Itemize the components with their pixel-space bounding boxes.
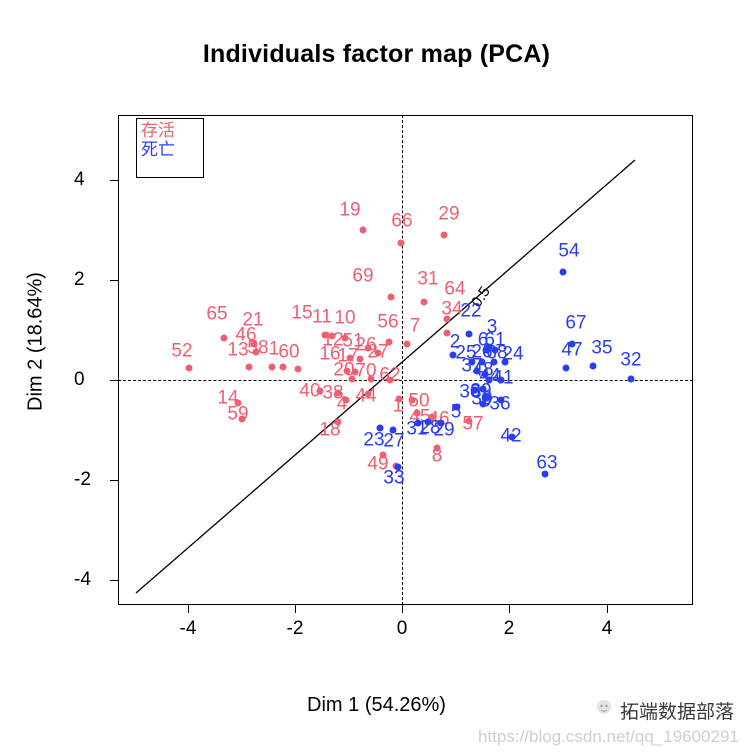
x-tick-mark (509, 605, 510, 613)
data-point-label-alive: 44 (355, 387, 376, 406)
data-point-label-alive: 62 (379, 366, 400, 385)
y-tick-mark (110, 380, 118, 381)
data-point-alive (295, 366, 302, 373)
y-tick-label: 4 (74, 169, 85, 191)
data-point-dead (560, 269, 567, 276)
data-point-label-alive: 52 (171, 342, 192, 361)
y-tick-label: -2 (74, 469, 91, 491)
data-point-label-dead: 47 (561, 341, 582, 360)
data-point-label-dead: 39 (471, 390, 492, 409)
watermark-text: 拓端数据部落 (620, 697, 734, 724)
x-tick-mark (607, 605, 608, 613)
data-point-label-dead: 42 (500, 427, 521, 446)
data-point-label-alive: 20 (333, 361, 354, 380)
x-tick-label: -2 (287, 618, 304, 640)
data-point-alive (398, 240, 405, 247)
data-point-label-alive: 59 (227, 405, 248, 424)
data-point-label-dead: 63 (536, 454, 557, 473)
data-point-label-alive: 1 (393, 397, 404, 416)
data-point-label-alive: 4 (337, 395, 348, 414)
x-tick-mark (295, 605, 296, 613)
x-tick-label: 2 (504, 618, 515, 640)
data-point-alive (388, 294, 395, 301)
y-tick-label: -4 (74, 569, 91, 591)
y-tick-mark (110, 480, 118, 481)
data-point-dead (628, 376, 635, 383)
data-point-label-alive: 27 (367, 343, 388, 362)
data-point-label-alive: 15 (291, 304, 312, 323)
x-tick-label: -4 (180, 618, 197, 640)
data-point-label-dead: 33 (383, 469, 404, 488)
watermark-logo-icon (592, 695, 616, 719)
data-point-alive (421, 299, 428, 306)
data-point-label-alive: 13 (227, 341, 248, 360)
data-point-label-dead: 22 (460, 302, 481, 321)
data-point-label-alive: 70 (355, 362, 376, 381)
data-point-label-alive: 56 (377, 313, 398, 332)
diagonal-reference-line (118, 115, 693, 605)
page-title: Individuals factor map (PCA) (0, 40, 753, 69)
x-tick-mark (188, 605, 189, 613)
legend-item-alive: 存活 (141, 122, 199, 141)
x-tick-label: 4 (602, 618, 613, 640)
data-point-alive (280, 364, 287, 371)
data-point-label-alive: 31 (417, 270, 438, 289)
data-point-label-alive: 18 (319, 421, 340, 440)
data-point-label-alive: 58 (247, 339, 268, 358)
y-tick-mark (110, 580, 118, 581)
data-point-alive (441, 232, 448, 239)
y-tick-mark (110, 280, 118, 281)
data-point-label-alive: 57 (462, 415, 483, 434)
data-point-dead (466, 331, 473, 338)
data-point-dead (563, 365, 570, 372)
data-point-label-dead: 23 (363, 431, 384, 450)
legend-item-dead: 死亡 (141, 141, 199, 160)
data-point-label-alive: 34 (441, 300, 462, 319)
data-point-alive (269, 364, 276, 371)
data-point-alive (246, 364, 253, 371)
y-axis-title: Dim 2 (18.64%) (25, 212, 48, 472)
data-point-label-alive: 29 (438, 205, 459, 224)
data-point-alive (404, 341, 411, 348)
data-point-label-alive: 40 (299, 382, 320, 401)
y-tick-label: 0 (74, 369, 85, 391)
data-point-label-alive: 66 (391, 212, 412, 231)
data-point-label-dead: 24 (502, 345, 523, 364)
x-tick-mark (402, 605, 403, 613)
data-point-alive (186, 365, 193, 372)
x-tick-label: 0 (397, 618, 408, 640)
data-point-dead (590, 363, 597, 370)
data-point-label-alive: 7 (410, 317, 421, 336)
data-point-label-alive: 11 (312, 308, 332, 327)
data-point-label-dead: 27 (383, 432, 404, 451)
data-point-label-dead: 32 (620, 351, 641, 370)
data-point-label-dead: 31 (406, 420, 427, 439)
data-point-label-dead: 36 (489, 395, 510, 414)
data-point-label-alive: 19 (339, 201, 360, 220)
data-point-label-alive: 64 (444, 280, 465, 299)
data-point-label-alive: 8 (432, 447, 443, 466)
watermark-url: https://blog.csdn.net/qq_19600291 (478, 727, 739, 747)
data-point-label-alive: 65 (206, 305, 227, 324)
data-point-label-alive: 69 (352, 267, 373, 286)
data-point-label-alive: 60 (278, 343, 299, 362)
legend: 存活 死亡 (136, 118, 204, 178)
data-point-label-dead: 67 (565, 314, 586, 333)
data-point-label-dead: 6 (478, 331, 489, 350)
y-tick-label: 2 (74, 269, 85, 291)
pca-chart-canvas: Individuals factor map (PCA) 0.5 存活 死亡 -… (0, 0, 753, 753)
data-point-label-alive: 10 (334, 309, 355, 328)
y-tick-mark (110, 180, 118, 181)
data-point-label-dead: 54 (558, 242, 579, 261)
data-point-label-dead: 35 (591, 339, 612, 358)
data-point-alive (360, 227, 367, 234)
